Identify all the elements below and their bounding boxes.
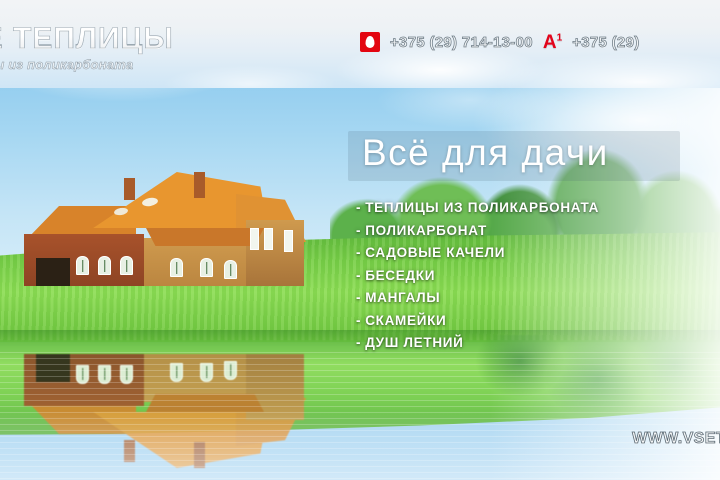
list-bullet-dash: - bbox=[356, 223, 361, 238]
mts-operator-icon bbox=[360, 32, 380, 52]
phone-number-a1[interactable]: +375 (29) bbox=[572, 34, 639, 51]
list-bullet-dash: - bbox=[356, 200, 361, 215]
a1-operator-icon: A1 bbox=[543, 33, 562, 52]
brand-title: СЕ ТЕПЛИЦЫ bbox=[0, 24, 220, 54]
house-porch-roof bbox=[146, 228, 264, 246]
house-window-upper bbox=[250, 228, 259, 250]
list-item-label: САДОВЫЕ КАЧЕЛИ bbox=[365, 245, 505, 260]
list-item: -СКАМЕЙКИ bbox=[356, 313, 696, 328]
list-item: -САДОВЫЕ КАЧЕЛИ bbox=[356, 245, 696, 260]
list-bullet-dash: - bbox=[356, 335, 361, 350]
house-chimney bbox=[194, 172, 205, 198]
list-item-label: МАНГАЛЫ bbox=[365, 290, 440, 305]
list-item: -ПОЛИКАРБОНАТ bbox=[356, 223, 696, 238]
list-bullet-dash: - bbox=[356, 268, 361, 283]
list-item-label: БЕСЕДКИ bbox=[365, 268, 435, 283]
site-header: СЕ ТЕПЛИЦЫ плицы из поликарбоната +375 (… bbox=[0, 0, 720, 88]
house-illustration bbox=[18, 172, 308, 292]
house-window-upper bbox=[284, 230, 293, 252]
house-window bbox=[76, 256, 89, 275]
house-garage-door bbox=[36, 258, 70, 286]
brand-logo[interactable]: СЕ ТЕПЛИЦЫ плицы из поликарбоната bbox=[0, 24, 220, 72]
house-window bbox=[200, 258, 213, 277]
list-item: -МАНГАЛЫ bbox=[356, 290, 696, 305]
list-item: -ТЕПЛИЦЫ ИЗ ПОЛИКАРБОНАТА bbox=[356, 200, 696, 215]
list-bullet-dash: - bbox=[356, 313, 361, 328]
phone-number-mts[interactable]: +375 (29) 714-13-00 bbox=[390, 34, 533, 51]
list-item: -БЕСЕДКИ bbox=[356, 268, 696, 283]
contact-block: +375 (29) 714-13-00 A1 +375 (29) bbox=[360, 32, 640, 52]
house-chimney bbox=[124, 178, 135, 200]
list-item-label: СКАМЕЙКИ bbox=[365, 313, 446, 328]
a1-superscript: 1 bbox=[557, 32, 563, 43]
promo-product-list: -ТЕПЛИЦЫ ИЗ ПОЛИКАРБОНАТА -ПОЛИКАРБОНАТ … bbox=[356, 200, 696, 358]
website-url[interactable]: WWW.VSET bbox=[632, 430, 720, 448]
white-haze-overlay-bottom bbox=[0, 410, 720, 480]
a1-letter: A bbox=[543, 32, 557, 53]
list-item-label: ПОЛИКАРБОНАТ bbox=[365, 223, 487, 238]
house-window bbox=[224, 260, 237, 279]
list-item-label: ТЕПЛИЦЫ ИЗ ПОЛИКАРБОНАТА bbox=[365, 200, 599, 215]
house-window bbox=[170, 258, 183, 277]
list-bullet-dash: - bbox=[356, 245, 361, 260]
promo-heading: Всё для дачи bbox=[362, 133, 692, 174]
list-item: -ДУШ ЛЕТНИЙ bbox=[356, 335, 696, 350]
brand-subtitle: плицы из поликарбоната bbox=[0, 57, 220, 72]
list-item-label: ДУШ ЛЕТНИЙ bbox=[365, 335, 463, 350]
banner-image: СЕ ТЕПЛИЦЫ плицы из поликарбоната +375 (… bbox=[0, 0, 720, 480]
house-window-upper bbox=[264, 228, 273, 250]
house-window bbox=[98, 256, 111, 275]
list-bullet-dash: - bbox=[356, 290, 361, 305]
house-window bbox=[120, 256, 133, 275]
